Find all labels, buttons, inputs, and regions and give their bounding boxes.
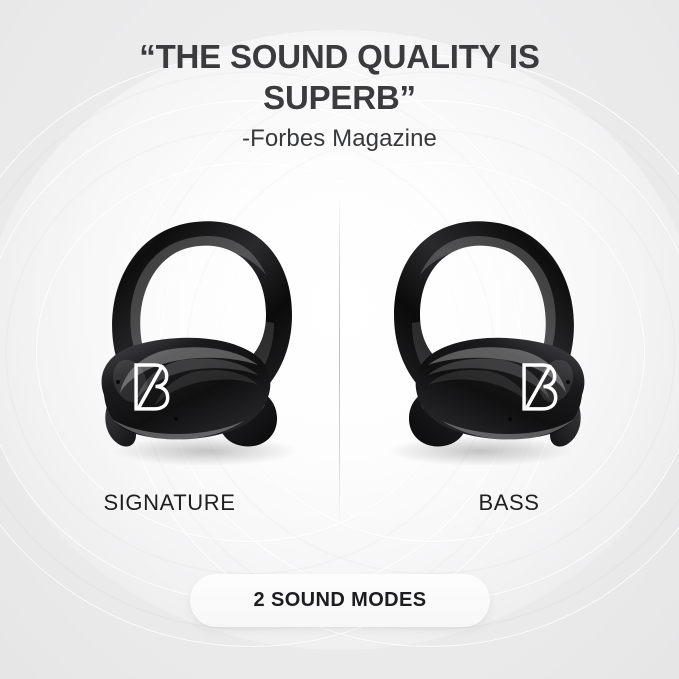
earbud-bass-image (358, 205, 608, 470)
quote-attribution: -Forbes Magazine (0, 124, 679, 154)
sound-modes-badge: 2 SOUND MODES (190, 574, 490, 627)
mode-label-signature: SIGNATURE (0, 490, 339, 516)
sound-modes-badge-label: 2 SOUND MODES (253, 589, 426, 612)
product-marketing-poster: “THE SOUND QUALITY IS SUPERB” -Forbes Ma… (0, 0, 679, 679)
mode-label-bass: BASS (339, 490, 679, 516)
mode-divider (339, 195, 340, 525)
page-title: “THE SOUND QUALITY IS SUPERB” (0, 36, 679, 118)
earbud-signature-image (78, 205, 328, 470)
